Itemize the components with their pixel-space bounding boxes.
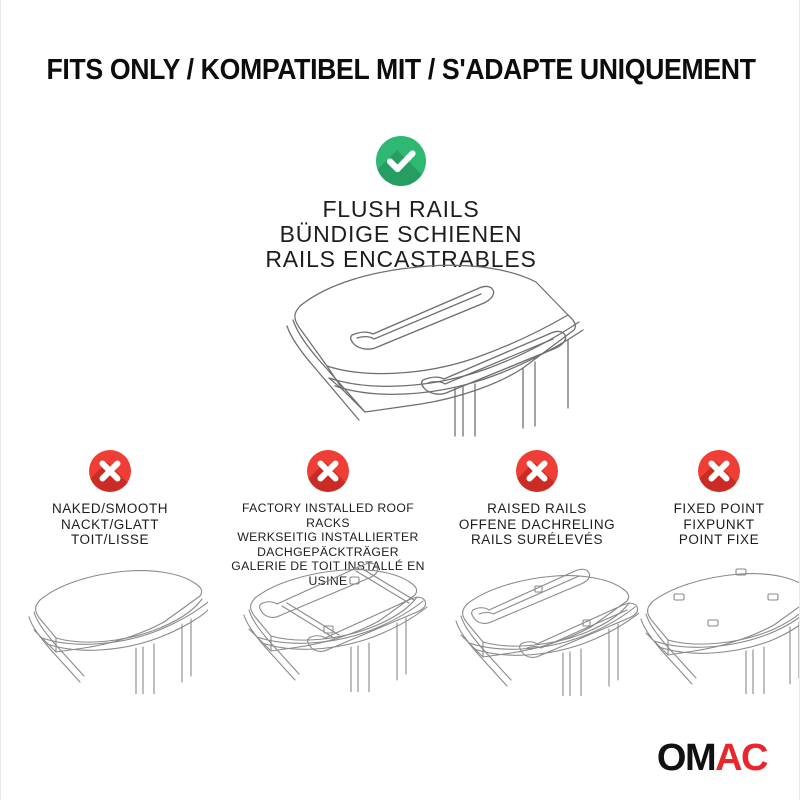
label-line-en: RAISED RAILS bbox=[437, 501, 637, 517]
option-factory-installed-roof-racks: FACTORY INSTALLED ROOF RACKS WERKSEITIG … bbox=[219, 450, 437, 588]
car-roof-fixed-point-illustration bbox=[628, 554, 800, 699]
car-roof-naked-smooth-illustration bbox=[12, 554, 208, 699]
cross-circle-icon bbox=[307, 450, 349, 492]
approved-label-line-en: FLUSH RAILS bbox=[1, 197, 800, 222]
label-line-de-1: WERKSEITIG INSTALLIERTER bbox=[219, 530, 437, 545]
check-circle-icon bbox=[376, 136, 426, 186]
label-line-en: NAKED/SMOOTH bbox=[1, 501, 219, 517]
approved-section: FLUSH RAILS BÜNDIGE SCHIENEN RAILS ENCAS… bbox=[1, 136, 800, 272]
page-title: FITS ONLY / KOMPATIBEL MIT / S'ADAPTE UN… bbox=[33, 54, 769, 87]
cross-circle-icon bbox=[698, 450, 740, 492]
label-line-de: OFFENE DACHRELING bbox=[437, 517, 637, 533]
approved-label-line-de: BÜNDIGE SCHIENEN bbox=[1, 222, 800, 247]
option-fixed-point-label: FIXED POINT FIXPUNKT POINT FIXE bbox=[637, 501, 800, 548]
cross-circle-icon bbox=[89, 450, 131, 492]
label-line-fr: TOIT/LISSE bbox=[1, 532, 219, 548]
label-line-de: NACKT/GLATT bbox=[1, 517, 219, 533]
option-raised-rails: RAISED RAILS OFFENE DACHRELING RAILS SUR… bbox=[437, 450, 637, 588]
rejected-section: NAKED/SMOOTH NACKT/GLATT TOIT/LISSE bbox=[1, 450, 800, 588]
car-roof-flush-rails-illustration bbox=[223, 258, 593, 438]
omac-logo: OMAC bbox=[657, 738, 767, 778]
option-raised-rails-label: RAISED RAILS OFFENE DACHRELING RAILS SUR… bbox=[437, 501, 637, 548]
compatibility-infographic: FITS ONLY / KOMPATIBEL MIT / S'ADAPTE UN… bbox=[0, 0, 800, 800]
label-line-de: FIXPUNKT bbox=[637, 517, 800, 533]
label-line-fr: POINT FIXE bbox=[637, 532, 800, 548]
car-roof-raised-rails-illustration bbox=[435, 554, 639, 701]
label-line-en: FIXED POINT bbox=[637, 501, 800, 517]
car-roof-factory-racks-illustration bbox=[221, 546, 435, 697]
option-naked-smooth-label: NAKED/SMOOTH NACKT/GLATT TOIT/LISSE bbox=[1, 501, 219, 548]
cross-circle-icon bbox=[516, 450, 558, 492]
label-line-en: FACTORY INSTALLED ROOF RACKS bbox=[219, 501, 437, 530]
option-fixed-point: FIXED POINT FIXPUNKT POINT FIXE bbox=[637, 450, 800, 588]
label-line-fr: RAILS SURÉLEVÉS bbox=[437, 532, 637, 548]
option-naked-smooth: NAKED/SMOOTH NACKT/GLATT TOIT/LISSE bbox=[1, 450, 219, 588]
omac-logo-dark-text: OM bbox=[657, 737, 715, 779]
omac-logo-red-text: AC bbox=[715, 737, 767, 779]
